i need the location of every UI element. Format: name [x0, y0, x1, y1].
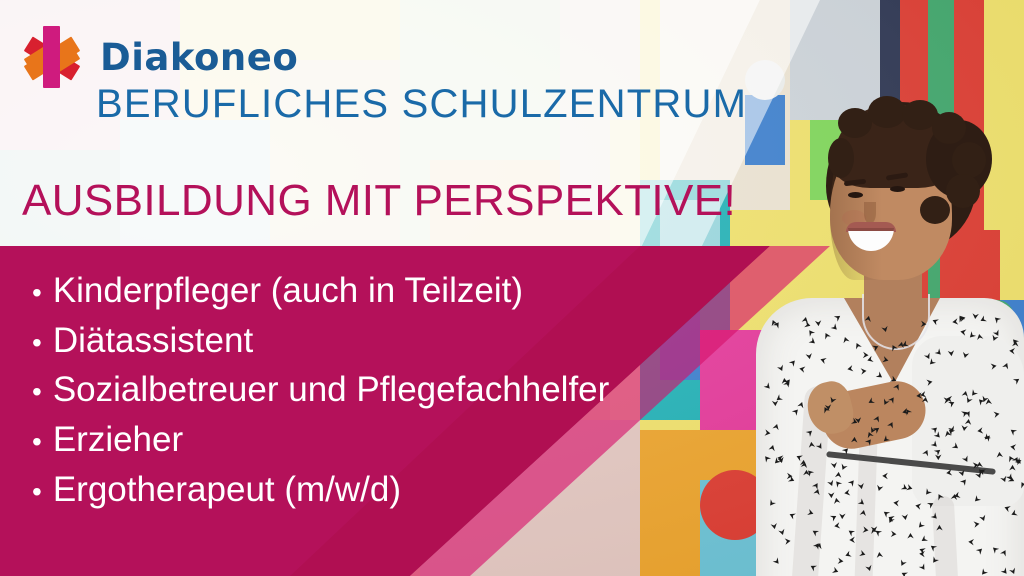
page-title: AUSBILDUNG MIT PERSPEKTIVE! [22, 176, 736, 226]
brand-logo: Diakoneo [20, 26, 298, 88]
list-item-label: Ergotherapeut (m/w/d) [53, 465, 401, 515]
list-item-label: Erzieher [53, 415, 183, 465]
list-item: •Ergotherapeut (m/w/d) [32, 465, 752, 515]
bullet-marker-icon: • [32, 478, 42, 506]
list-item: •Sozialbetreuer und Pflegefachhelfer [32, 365, 752, 415]
bullet-marker-icon: • [32, 378, 42, 406]
list-item-label: Diätassistent [53, 316, 253, 366]
list-item: •Erzieher [32, 415, 752, 465]
brand-subtitle: BERUFLICHES SCHULZENTRUM [96, 82, 747, 127]
bullet-marker-icon: • [32, 428, 42, 456]
job-list: •Kinderpfleger (auch in Teilzeit)•Diätas… [32, 266, 752, 514]
list-item: •Kinderpfleger (auch in Teilzeit) [32, 266, 752, 316]
bullet-marker-icon: • [32, 279, 42, 307]
advertisement-banner: ⮟⮟⮟⮟⮟⮟⮟⮟⮟⮟⮟⮟⮟⮟⮟⮟⮟⮟⮟⮟⮟⮟⮟⮟⮟⮟⮟⮟⮟⮟⮟⮟⮟⮟⮟⮟⮟⮟⮟⮟… [0, 0, 1024, 576]
list-item-label: Sozialbetreuer und Pflegefachhelfer [53, 365, 609, 415]
diakoneo-asterisk-icon [20, 26, 82, 88]
bullet-marker-icon: • [32, 329, 42, 357]
list-item: •Diätassistent [32, 316, 752, 366]
brand-wordmark: Diakoneo [100, 39, 298, 76]
list-item-label: Kinderpfleger (auch in Teilzeit) [53, 266, 523, 316]
